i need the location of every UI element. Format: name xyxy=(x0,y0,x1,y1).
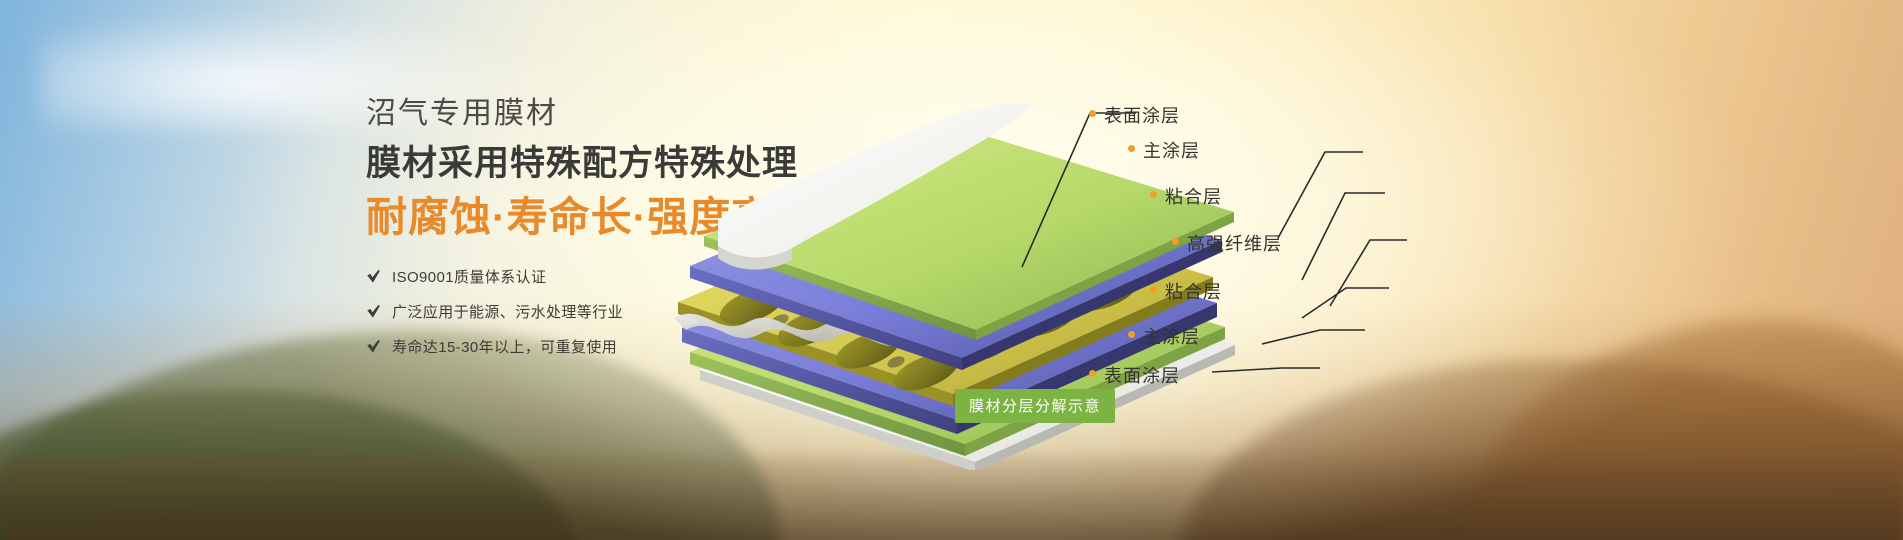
check-icon xyxy=(366,269,381,284)
banner-root: 沼气专用膜材 膜材采用特殊配方特殊处理 耐腐蚀·寿命长·强度高 ISO9001质… xyxy=(0,0,1903,540)
list-item-label: 寿命达15-30年以上，可重复使用 xyxy=(392,336,617,357)
check-icon xyxy=(366,304,381,319)
list-item-label: 广泛应用于能源、污水处理等行业 xyxy=(392,301,623,322)
list-item-label: ISO9001质量体系认证 xyxy=(392,266,546,287)
check-icon xyxy=(366,339,381,354)
diagram-caption-badge: 膜材分层分解示意 xyxy=(955,389,1115,423)
